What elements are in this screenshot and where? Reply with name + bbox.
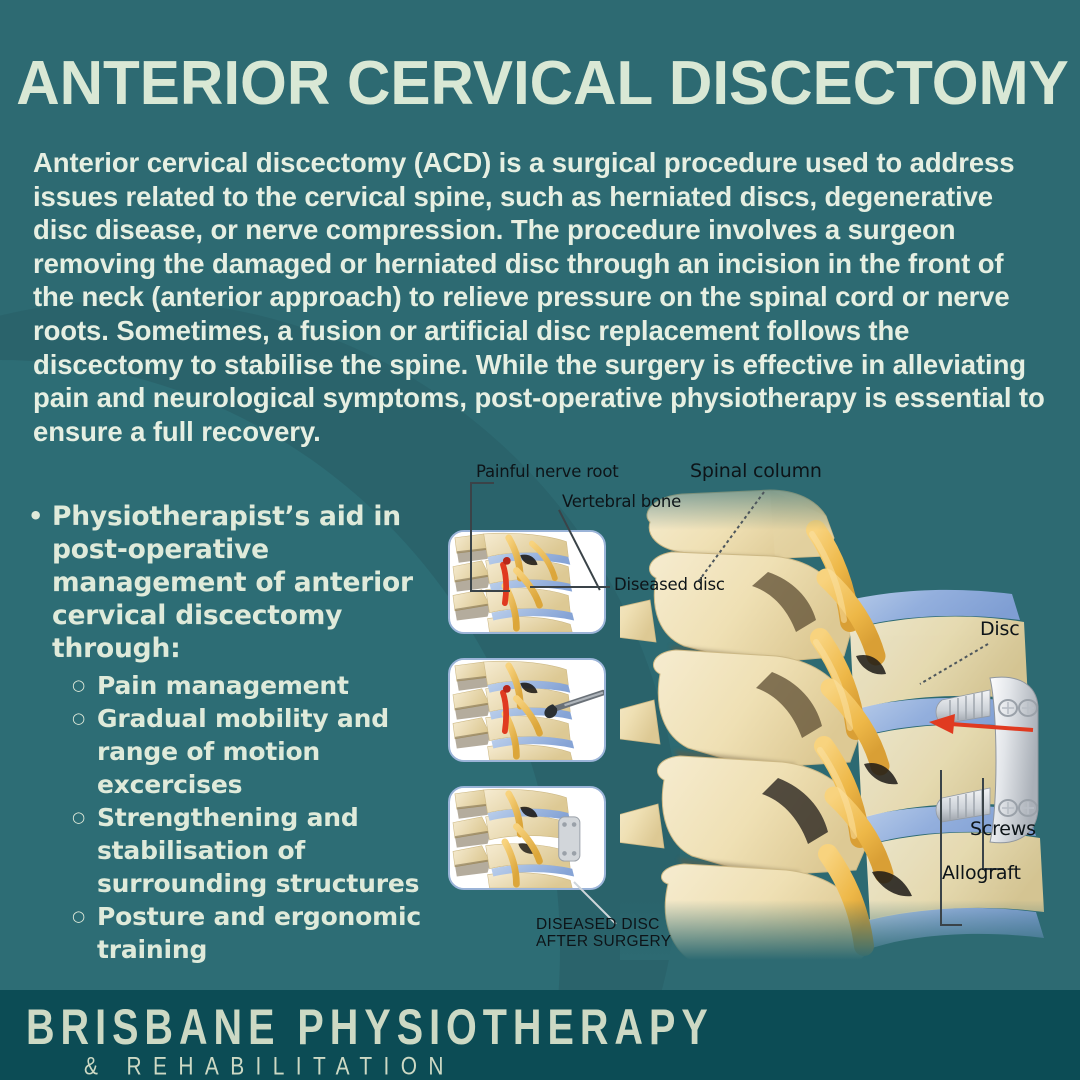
list-item: ○ Posture and ergonomic training (72, 900, 448, 966)
inset-panel-after-surgery (448, 786, 606, 890)
label-spinal-column: Spinal column (690, 460, 822, 482)
infographic-poster: ANTERIOR CERVICAL DISCECTOMY Anterior ce… (0, 0, 1080, 1080)
list-item: ○ Pain management (72, 669, 448, 702)
leader-line (470, 482, 494, 484)
sub-bullet-marker-icon: ○ (72, 801, 97, 834)
anatomy-illustration: Painful nerve root Vertebral bone Diseas… (440, 440, 1080, 960)
list-item: ○ Strengthening and stabilisation of sur… (72, 801, 448, 900)
list-item: ○ Gradual mobility and range of motion e… (72, 702, 448, 801)
label-allograft: Allograft (942, 862, 1021, 884)
label-vertebral-bone: Vertebral bone (562, 492, 681, 511)
leader-line (470, 482, 472, 592)
leader-line (530, 586, 610, 588)
list-item-main: • Physiotherapist’s aid in post-operativ… (28, 500, 448, 665)
physiotherapy-bullet-list: • Physiotherapist’s aid in post-operativ… (28, 500, 448, 966)
label-diseased-disc: Diseased disc (614, 575, 725, 594)
leader-line (940, 770, 942, 926)
list-item-main-label: Physiotherapist’s aid in post-operative … (52, 500, 448, 665)
list-item-label: Pain management (97, 669, 349, 702)
brand-logo-secondary: & REHABILITATION (84, 1052, 455, 1080)
sub-bullet-marker-icon: ○ (72, 702, 97, 735)
leader-line (690, 488, 770, 588)
page-title: ANTERIOR CERVICAL DISCECTOMY (16, 48, 1064, 119)
leader-line (910, 640, 1000, 690)
list-item-label: Posture and ergonomic training (97, 900, 437, 966)
footer-bar: BRISBANE PHYSIOTHERAPY & REHABILITATION (0, 990, 1080, 1080)
sub-bullet-marker-icon: ○ (72, 669, 97, 702)
sub-bullet-marker-icon: ○ (72, 900, 97, 933)
caption-after-surgery-line2: AFTER SURGERY (536, 933, 671, 950)
inset-panel-disc-removal (448, 658, 606, 762)
label-disc: Disc (980, 618, 1019, 640)
list-item-label: Strengthening and stabilisation of surro… (97, 801, 437, 900)
bullet-marker-icon: • (28, 500, 52, 533)
leader-line (940, 924, 962, 926)
inset-panel-diseased-disc (448, 530, 606, 634)
leader-line (470, 590, 510, 592)
list-item-label: Gradual mobility and range of motion exc… (97, 702, 437, 801)
sub-bullet-list: ○ Pain management ○ Gradual mobility and… (28, 669, 448, 966)
label-screws: Screws (970, 818, 1036, 840)
brand-logo-primary: BRISBANE PHYSIOTHERAPY (26, 1000, 714, 1057)
red-arrow-icon (925, 712, 1035, 742)
label-painful-nerve-root: Painful nerve root (476, 462, 619, 481)
implant-plate-icon (559, 817, 580, 861)
intro-paragraph: Anterior cervical discectomy (ACD) is a … (33, 146, 1048, 448)
caption-after-surgery-line1: DISEASED DISC (536, 916, 660, 933)
